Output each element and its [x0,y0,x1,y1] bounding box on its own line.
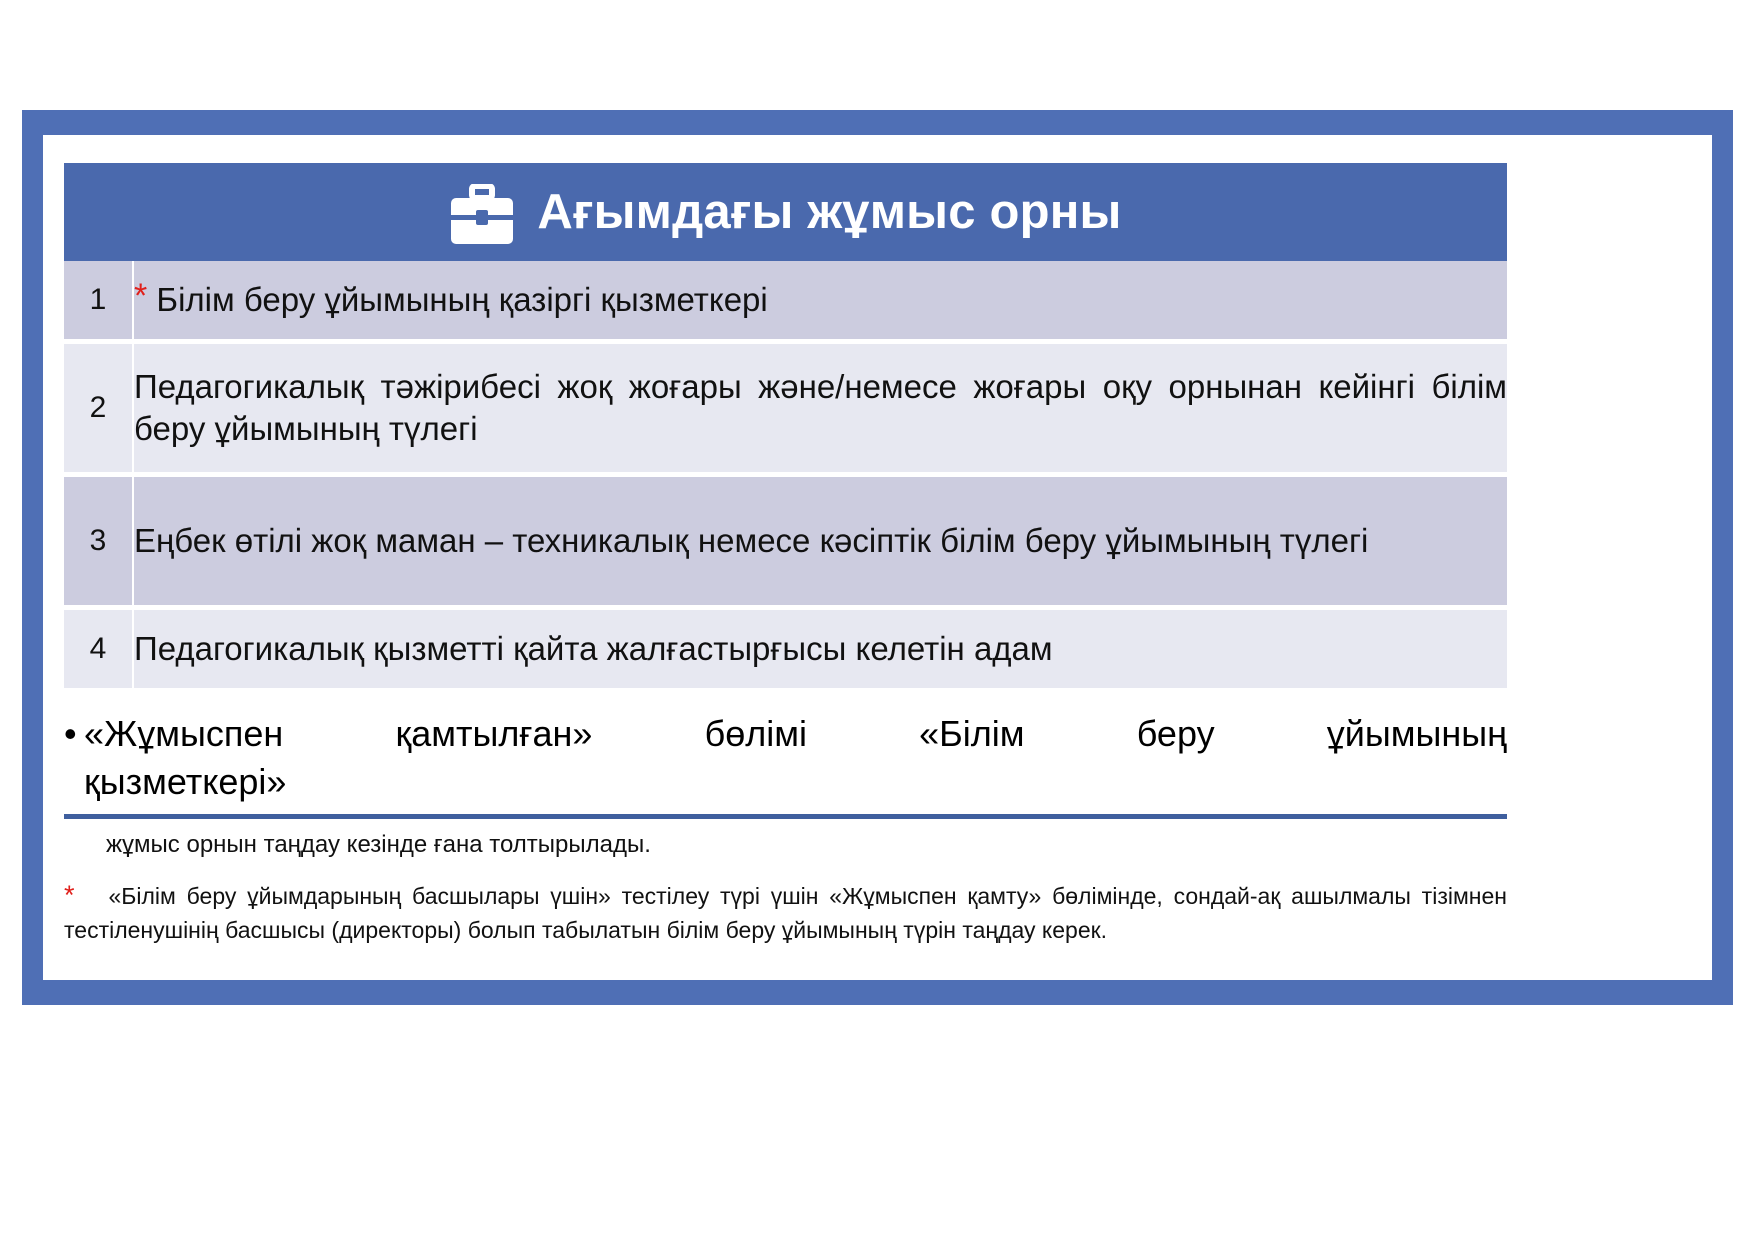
row-number: 3 [64,477,133,605]
page-title: Ағымдағы жұмыс орны [537,188,1121,237]
header-bar: Ағымдағы жұмыс орны [64,163,1507,261]
briefcase-icon [449,184,515,246]
bullet-line-1: «Жұмыспен қамтылған» бөлімі «Білім беру … [84,710,1507,758]
table-row[interactable]: 4 Педагогикалық қызметті қайта жалғастыр… [64,610,1507,688]
bullet-paragraph: • «Жұмыспен қамтылған» бөлімі «Білім бер… [64,710,1507,806]
table-row[interactable]: 2 Педагогикалық тәжірибесі жоқ жоғары жә… [64,344,1507,472]
row-text: Педагогикалық қызметті қайта жалғастырғы… [133,610,1507,688]
slide-content: Ағымдағы жұмыс орны 1 * Білім беру ұйымы… [64,163,1507,947]
table-row[interactable]: 1 * Білім беру ұйымының қазіргі қызметке… [64,261,1507,339]
footnote-2: *«Білім беру ұйымдарының басшылары үшін»… [64,876,1507,947]
section-divider [64,814,1507,819]
table-row[interactable]: 3 Еңбек өтілі жоқ маман – техникалық нем… [64,477,1507,605]
bullet-line-2: қызметкері» [84,758,1507,806]
row-number: 4 [64,610,133,688]
footnote-1: жұмыс орнын таңдау кезінде ғана толтырыл… [64,829,1507,860]
footnote-asterisk: * [64,880,75,910]
work-place-table: 1 * Білім беру ұйымының қазіргі қызметке… [64,261,1507,688]
row-text: Педагогикалық тәжірибесі жоқ жоғары және… [133,344,1507,472]
required-asterisk: * [134,277,147,315]
footnote-2-text: «Білім беру ұйымдарының басшылары үшін» … [64,883,1507,943]
row-number: 1 [64,261,133,339]
row-text: Еңбек өтілі жоқ маман – техникалық немес… [133,477,1507,605]
slide-canvas: Ағымдағы жұмыс орны 1 * Білім беру ұйымы… [0,0,1755,1241]
row-number: 2 [64,344,133,472]
row-text: * Білім беру ұйымының қазіргі қызметкері [133,261,1507,339]
bullet-text: «Жұмыспен қамтылған» бөлімі «Білім беру … [84,710,1507,806]
bullet-marker: • [64,710,84,758]
row-text-label: Білім беру ұйымының қазіргі қызметкері [156,281,767,318]
